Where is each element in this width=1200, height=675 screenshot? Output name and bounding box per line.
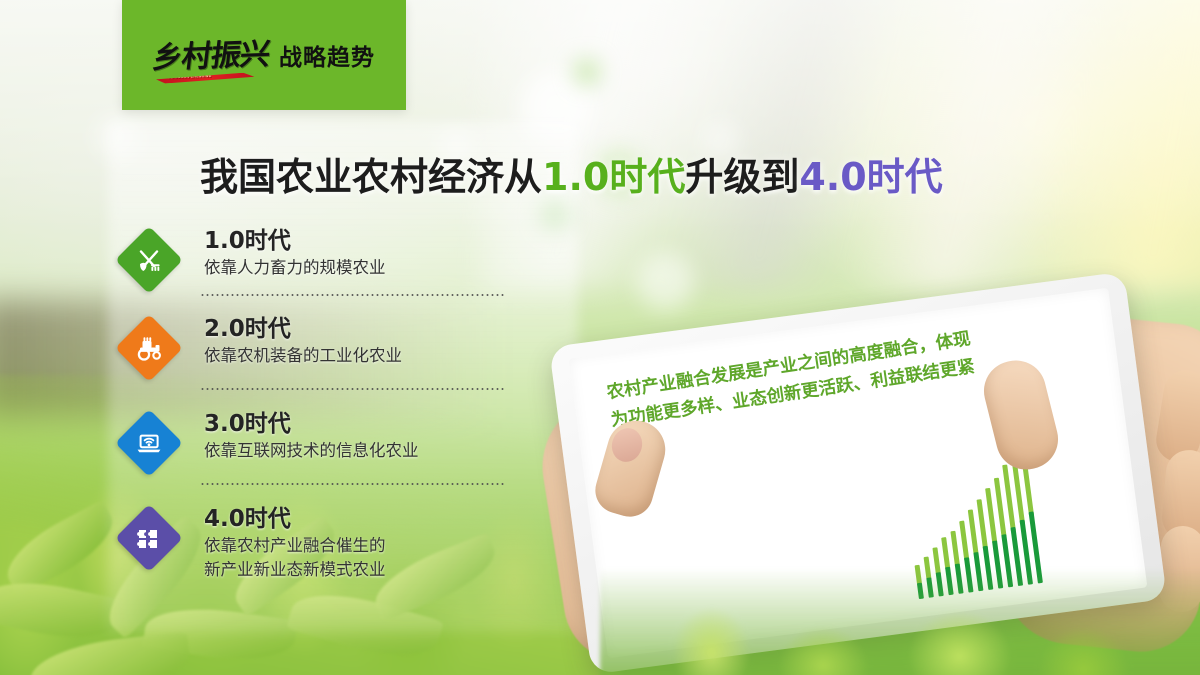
era-text-2: 2.0时代 依靠农机装备的工业化农业	[204, 316, 534, 367]
brand-logo-calligraphy: 乡村振兴 XIANGCUN ZHENXING	[150, 28, 273, 81]
puzzle-icon	[115, 504, 183, 572]
shovel-rake-icon	[115, 226, 183, 294]
foreground-plants-right	[600, 555, 1200, 675]
title-part-1: 我国农业农村经济从	[200, 155, 542, 199]
era-text-4: 4.0时代 依靠农村产业融合催生的 新产业新业态新模式农业	[204, 506, 534, 581]
tractor-icon	[115, 314, 183, 382]
laptop-wifi-icon	[115, 409, 183, 477]
chart-bar-top-segment	[976, 499, 987, 549]
era-list: 1.0时代 依靠人力畜力的规模农业	[120, 228, 590, 606]
era-divider	[200, 388, 505, 390]
era-heading: 2.0时代	[204, 316, 534, 343]
era-text-1: 1.0时代 依靠人力畜力的规模农业	[204, 228, 534, 279]
era-item-2[interactable]: 2.0时代 依靠农机装备的工业化农业	[120, 316, 590, 411]
era-item-4[interactable]: 4.0时代 依靠农村产业融合催生的 新产业新业态新模式农业	[120, 506, 590, 606]
era-heading: 1.0时代	[204, 228, 534, 255]
page-title: 我国农业农村经济从1.0时代升级到4.0时代	[200, 146, 943, 201]
slide-root: 乡村振兴 XIANGCUN ZHENXING 战略趋势 我国农业农村经济从1.0…	[0, 0, 1200, 675]
era-divider	[200, 294, 505, 296]
title-highlight-1: 1.0时代	[542, 155, 685, 199]
era-divider	[200, 483, 505, 485]
era-heading: 3.0时代	[204, 411, 534, 438]
brand-banner: 乡村振兴 XIANGCUN ZHENXING 战略趋势	[122, 0, 406, 110]
brand-logo-text: 乡村振兴	[150, 36, 271, 75]
banner-subtitle: 战略趋势	[279, 38, 375, 72]
era-item-3[interactable]: 3.0时代 依靠互联网技术的信息化农业	[120, 411, 590, 506]
era-description-line2: 新产业新业态新模式农业	[204, 559, 534, 581]
era-text-3: 3.0时代 依靠互联网技术的信息化农业	[204, 411, 534, 462]
era-heading: 4.0时代	[204, 506, 534, 533]
era-description: 依靠农机装备的工业化农业	[204, 345, 534, 367]
era-description: 依靠人力畜力的规模农业	[204, 257, 534, 279]
title-part-2: 升级到	[685, 155, 799, 199]
chart-bar-top-segment	[968, 509, 979, 554]
era-description: 依靠农村产业融合催生的	[204, 535, 534, 557]
era-item-1[interactable]: 1.0时代 依靠人力畜力的规模农业	[120, 228, 590, 316]
era-description: 依靠互联网技术的信息化农业	[204, 440, 534, 462]
bokeh-blob	[575, 60, 599, 84]
title-highlight-2: 4.0时代	[799, 155, 942, 199]
